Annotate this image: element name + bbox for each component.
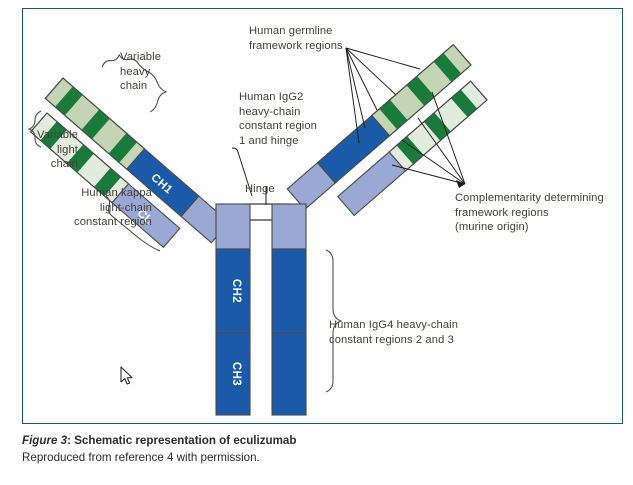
ch2-label: CH2 — [230, 279, 242, 303]
label-human-kappa-constant: Human kappa light-chain constant region — [0, 186, 152, 230]
fc-right-upper-light-blue — [272, 204, 306, 249]
fc-stem-left: CH2 CH3 — [216, 204, 250, 415]
label-variable-heavy-chain: Variable heavy chain — [120, 50, 161, 94]
caption-figure-number: Figure 3 — [22, 434, 67, 447]
caption-credit-line: Reproduced from reference 4 with permiss… — [22, 450, 622, 466]
igg2-leader-hook — [232, 148, 238, 153]
label-human-germline-framework: Human germline framework regions — [249, 24, 343, 53]
fc-stem-right — [272, 204, 306, 415]
fc-left-upper-light-blue — [216, 204, 250, 249]
fc-right-ch2-domain — [272, 249, 306, 333]
label-human-igg2-ch1-hinge: Human IgG2 heavy-chain constant region 1… — [239, 90, 317, 148]
label-human-igg4-constant: Human IgG4 heavy-chain constant regions … — [329, 318, 458, 347]
cursor-arrow-icon — [121, 367, 132, 384]
label-cdr-murine-origin: Complementarity determining framework re… — [455, 191, 604, 235]
label-variable-light-chain: Variable light chain — [0, 128, 78, 172]
ch3-label: CH3 — [230, 362, 242, 386]
figure-caption: Figure 3: Schematic representation of ec… — [22, 433, 622, 465]
label-hinge: Hinge — [245, 182, 275, 197]
mouse-cursor — [120, 366, 134, 386]
fc-right-ch3-domain — [272, 333, 306, 415]
caption-title-line: Figure 3: Schematic representation of ec… — [22, 433, 622, 449]
caption-title-text: : Schematic representation of eculizumab — [67, 434, 296, 447]
